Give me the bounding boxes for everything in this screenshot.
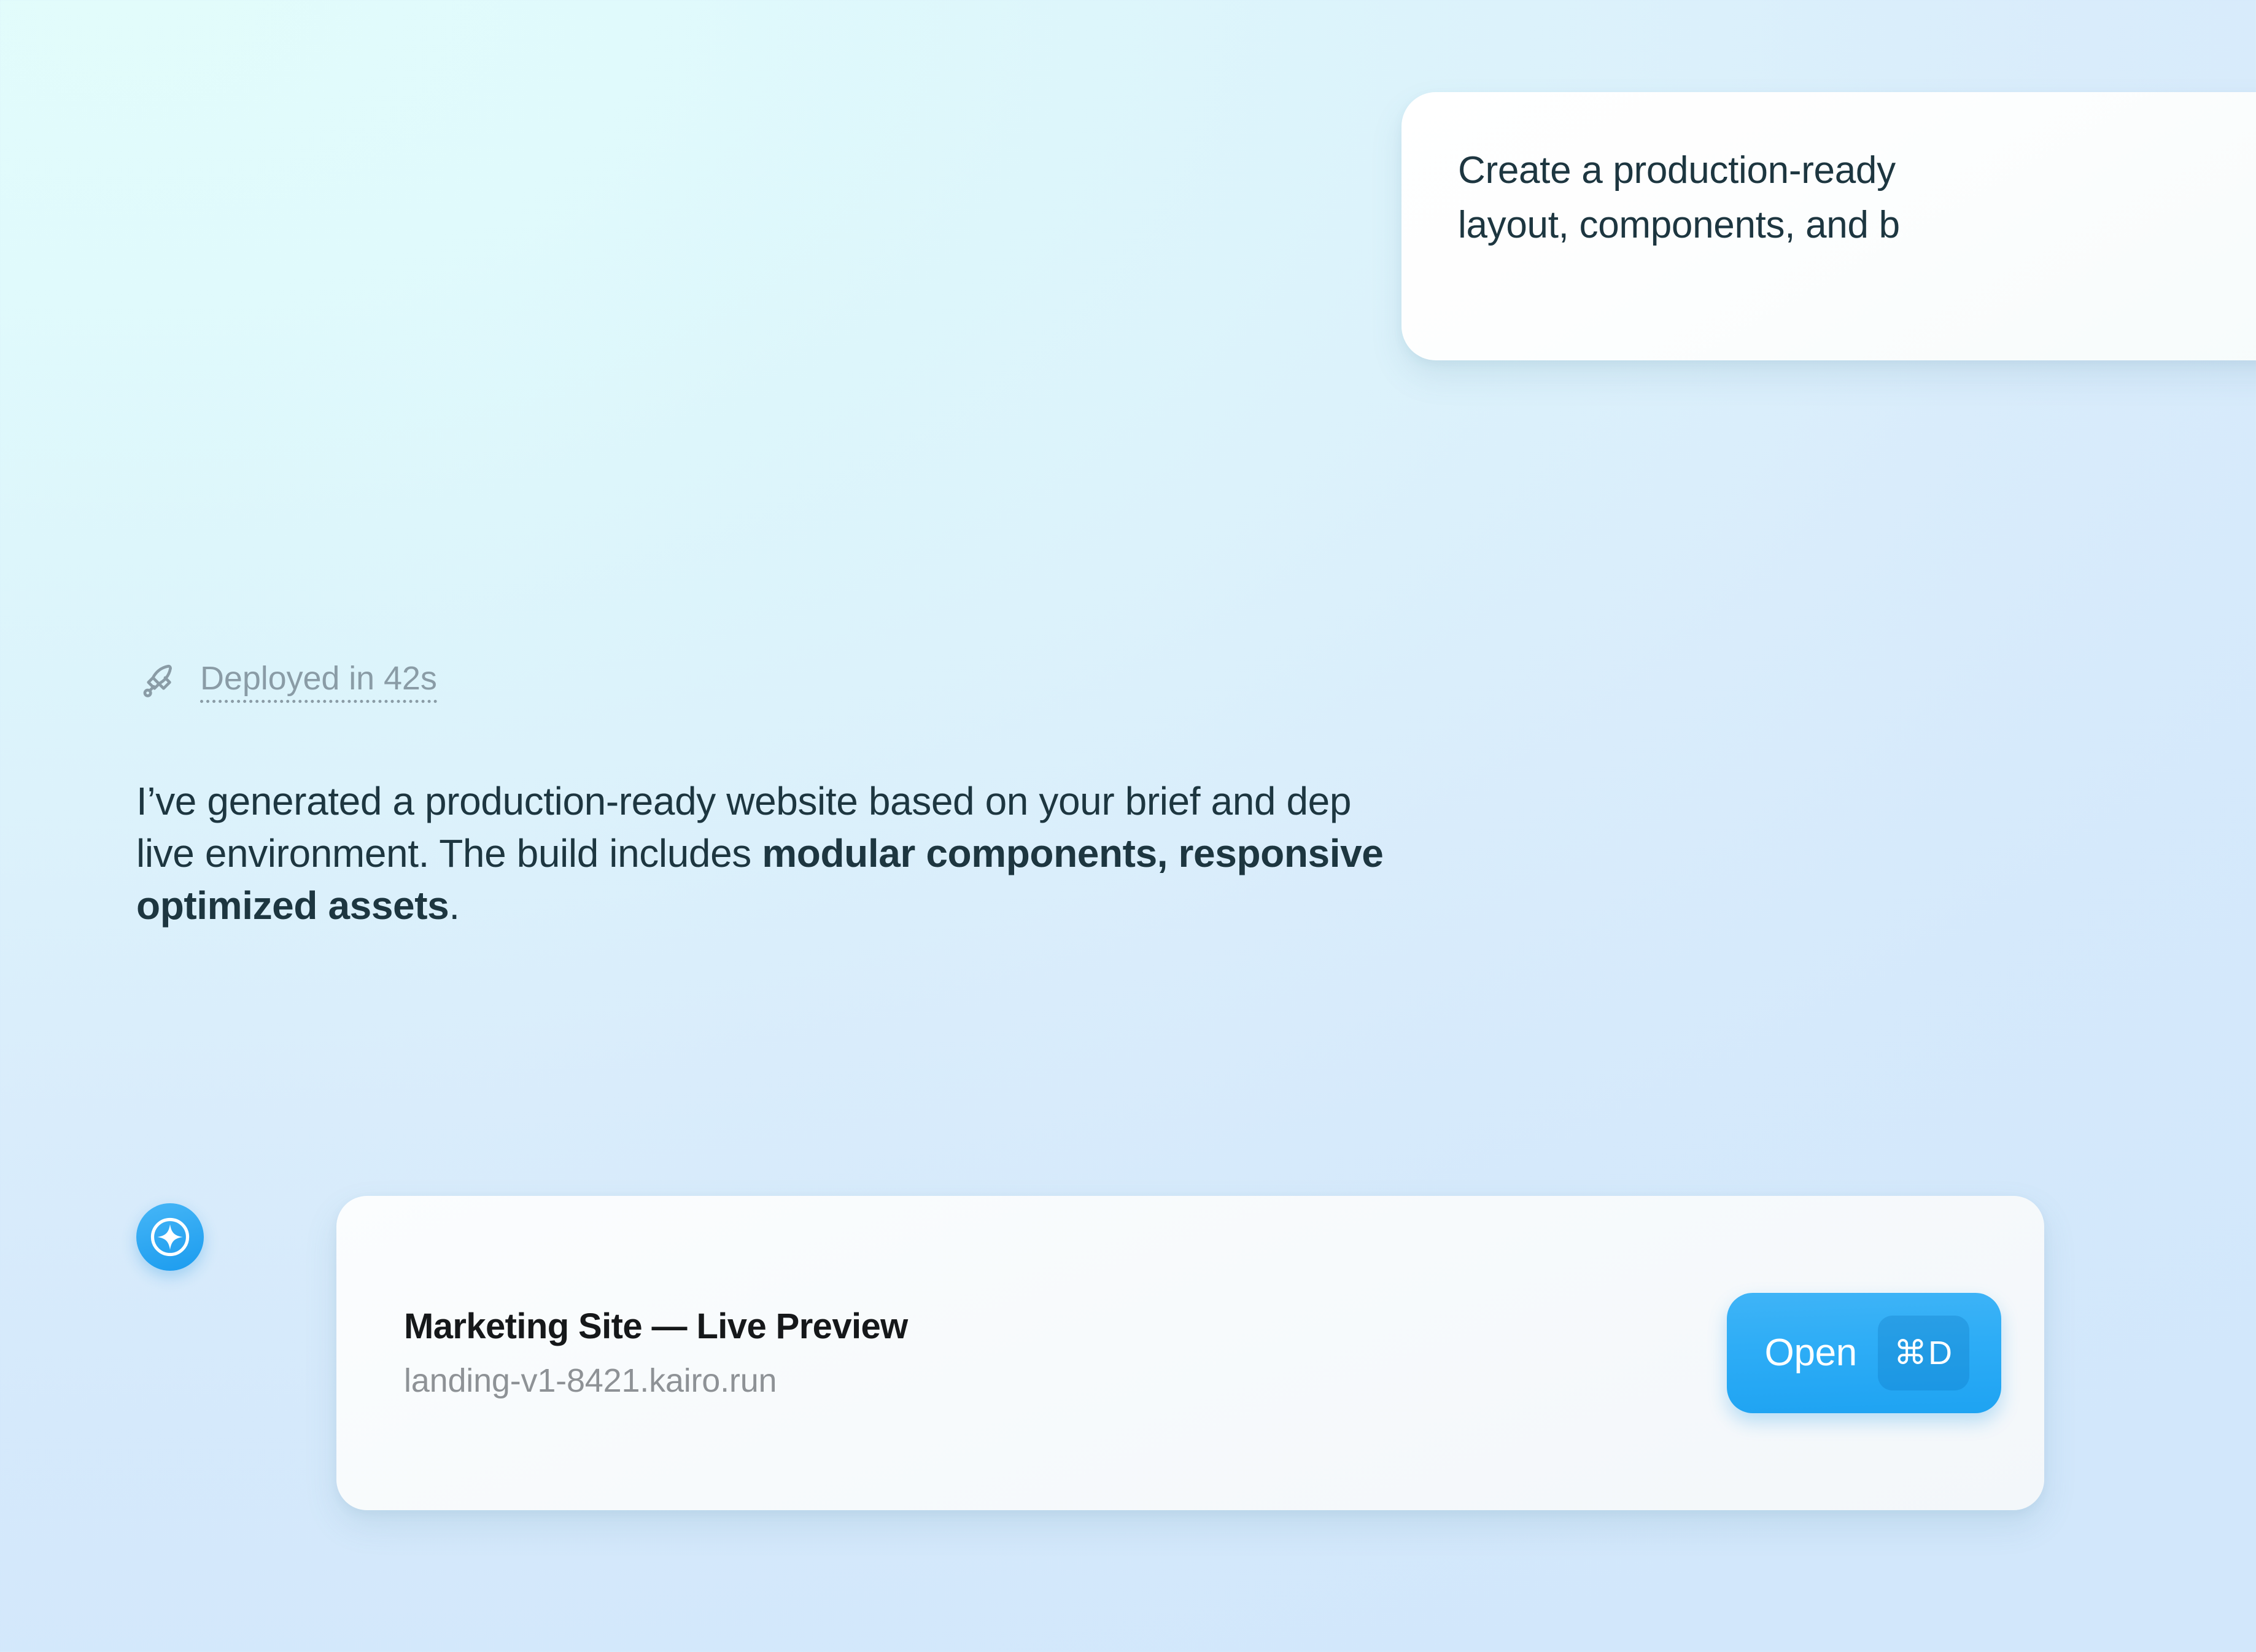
user-message-bubble: Create a production-ready layout, compon… (1401, 92, 2256, 360)
user-message-line-1: Create a production-ready (1458, 147, 2256, 193)
assistant-line-3-bold: optimized assets (136, 883, 449, 928)
sparkle-icon (147, 1214, 193, 1260)
user-message-text: Create a production-ready layout, compon… (1458, 147, 2256, 248)
assistant-line-3-plain: . (449, 883, 459, 928)
assistant-message-text: I’ve generated a production-ready websit… (136, 778, 2256, 929)
avatar (136, 1203, 204, 1271)
rocket-icon (140, 662, 180, 703)
assistant-message-line-3: optimized assets. (136, 883, 2256, 928)
live-preview-card[interactable]: Marketing Site — Live Preview landing-v1… (336, 1196, 2044, 1510)
open-button[interactable]: Open ⌘D (1727, 1293, 2001, 1413)
live-preview-url: landing-v1-8421.kairo.run (404, 1363, 1727, 1398)
user-message-line-2: layout, components, and b (1458, 202, 2256, 248)
live-preview-meta: Marketing Site — Live Preview landing-v1… (404, 1308, 1727, 1399)
assistant-line-2-bold: modular components, responsive (762, 831, 1383, 875)
live-preview-title: Marketing Site — Live Preview (404, 1308, 1727, 1345)
deployment-status-row: Deployed in 42s (140, 662, 437, 703)
assistant-line-2-plain: live environment. The build includes (136, 831, 762, 875)
assistant-message-line-1: I’ve generated a production-ready websit… (136, 778, 2256, 824)
open-button-label: Open (1765, 1334, 1857, 1372)
assistant-message-line-2: live environment. The build includes mod… (136, 831, 2256, 876)
deployment-status-label: Deployed in 42s (200, 662, 437, 703)
open-button-shortcut-badge: ⌘D (1878, 1316, 1969, 1390)
